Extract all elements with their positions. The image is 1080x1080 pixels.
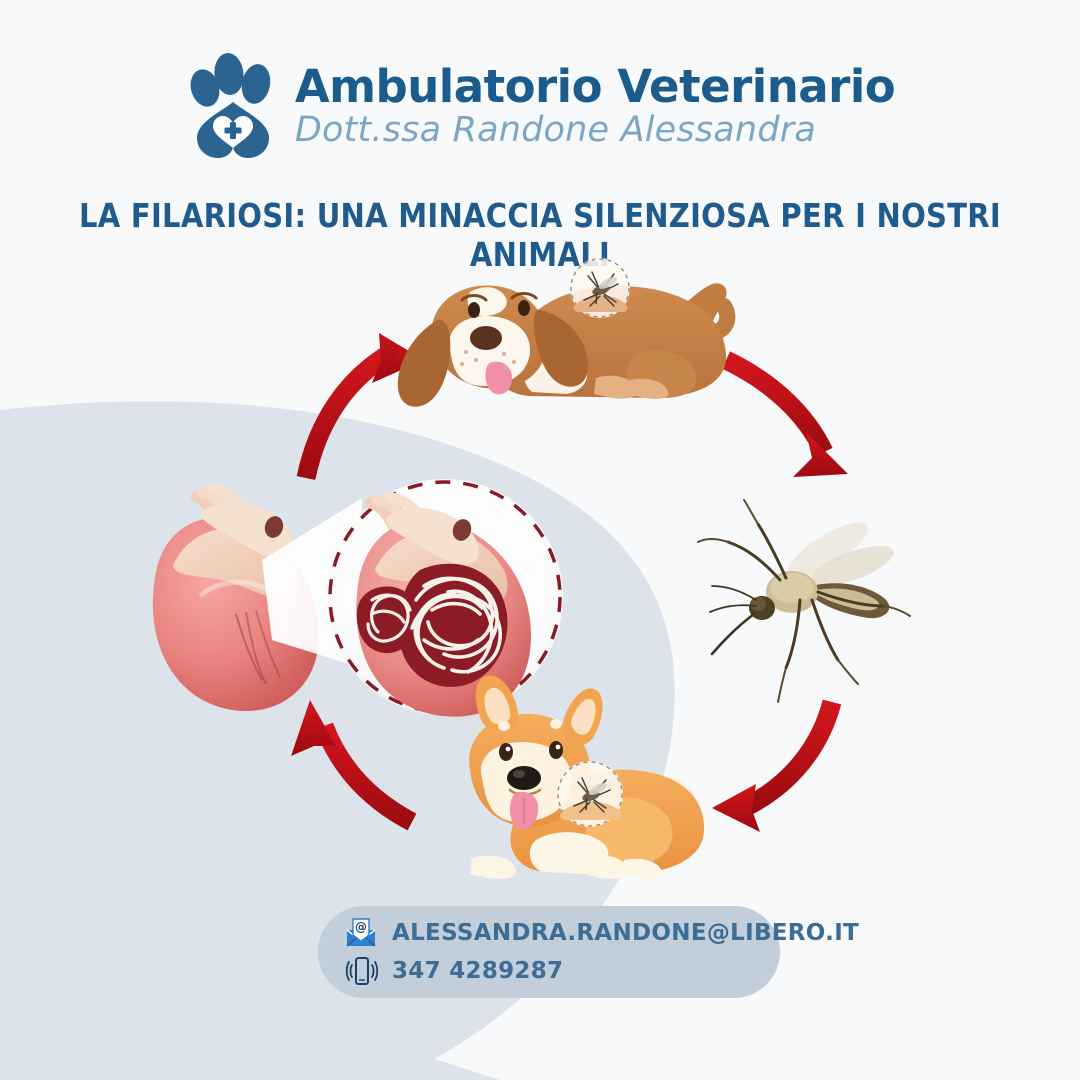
heart-heartworm-icon (327, 479, 563, 717)
bite-zone-bottom (557, 761, 623, 827)
svg-text:@: @ (355, 920, 367, 934)
arrow-dog-bottom-to-heart (291, 700, 412, 822)
mosquito-icon (698, 500, 910, 702)
mobile-phone-signal-icon (344, 954, 378, 988)
envelope-at-icon: @ (344, 916, 378, 950)
contact-bar: @ ALESSANDRA.RANDONE@LIBERO.IT 347 42892… (318, 906, 780, 998)
contact-email-text: ALESSANDRA.RANDONE@LIBERO.IT (392, 920, 859, 946)
poster-canvas: Ambulatorio Veterinario Dott.ssa Randone… (0, 0, 1080, 1080)
contact-phone-text: 347 4289287 (392, 958, 563, 984)
arrow-mosquito-to-dog-bottom (712, 702, 832, 832)
bite-zone-top (570, 258, 630, 318)
dog-brown-icon (398, 258, 727, 407)
arrow-dog-top-to-mosquito (726, 360, 848, 477)
contact-email-row[interactable]: @ ALESSANDRA.RANDONE@LIBERO.IT (344, 916, 780, 950)
contact-phone-row[interactable]: 347 4289287 (344, 954, 780, 988)
dog-shiba-icon (469, 675, 704, 878)
